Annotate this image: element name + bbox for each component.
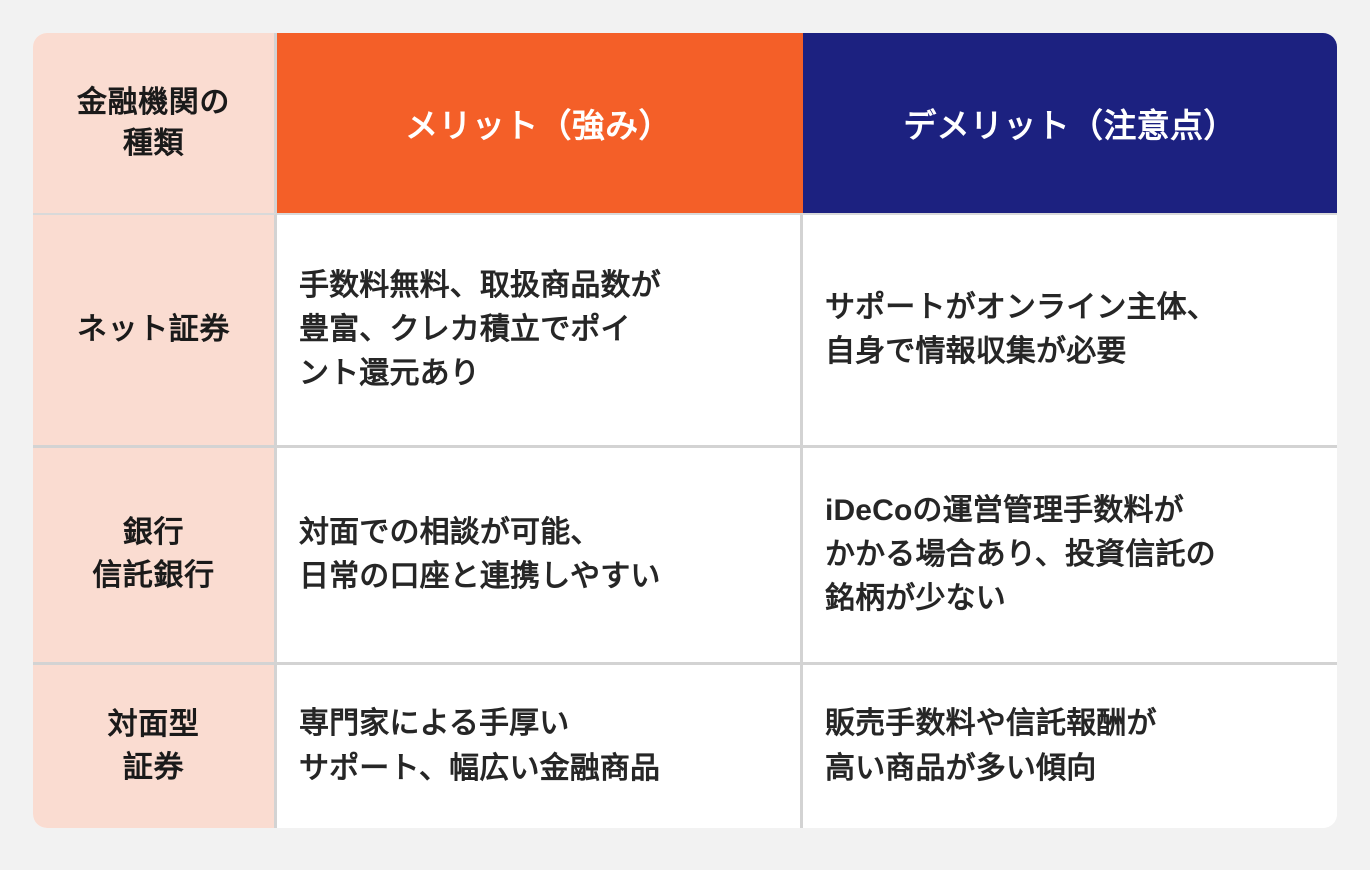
column-header-institution-type-line-1: 金融機関の — [33, 82, 274, 123]
demerit-line: 販売手数料や信託報酬が — [825, 702, 1321, 746]
cell-merit-face-to-face-securities: 専門家による手厚い サポート、幅広い金融商品 — [277, 662, 800, 828]
demerit-line: 自身で情報収集が必要 — [825, 330, 1321, 374]
column-header-institution-type: 金融機関の 種類 — [33, 33, 277, 213]
financial-institution-comparison-table: 金融機関の 種類 メリット（強み） デメリット（注意点） ネット証券 手数料無料… — [33, 33, 1337, 828]
row-label-line: 対面型 — [33, 704, 274, 747]
cell-demerit-face-to-face-securities: 販売手数料や信託報酬が 高い商品が多い傾向 — [800, 662, 1337, 828]
row-label-line: 証券 — [33, 747, 274, 790]
cell-merit-net-securities: 手数料無料、取扱商品数が 豊富、クレカ積立でポイ ント還元あり — [277, 213, 800, 445]
table-row: 銀行 信託銀行 対面での相談が可能、 日常の口座と連携しやすい iDeCoの運営… — [33, 445, 1337, 662]
row-label-line: 信託銀行 — [33, 555, 274, 598]
column-header-demerit: デメリット（注意点） — [800, 33, 1337, 213]
demerit-line: iDeCoの運営管理手数料が — [825, 489, 1321, 533]
row-label-line: 銀行 — [33, 512, 274, 555]
row-label-bank-trust-bank: 銀行 信託銀行 — [33, 445, 277, 662]
merit-line: 日常の口座と連携しやすい — [299, 555, 784, 599]
merit-line: サポート、幅広い金融商品 — [299, 747, 784, 791]
merit-line: 豊富、クレカ積立でポイ — [299, 308, 784, 352]
demerit-line: 銘柄が少ない — [825, 577, 1321, 621]
column-header-merit: メリット（強み） — [277, 33, 800, 213]
column-header-merit-label: メリット（強み） — [277, 99, 800, 147]
row-label-line: ネット証券 — [33, 309, 274, 352]
column-header-demerit-label: デメリット（注意点） — [803, 99, 1337, 147]
table-row: ネット証券 手数料無料、取扱商品数が 豊富、クレカ積立でポイ ント還元あり サポ… — [33, 213, 1337, 445]
row-label-face-to-face-securities: 対面型 証券 — [33, 662, 277, 828]
merit-line: 手数料無料、取扱商品数が — [299, 264, 784, 308]
cell-demerit-bank-trust-bank: iDeCoの運営管理手数料が かかる場合あり、投資信託の 銘柄が少ない — [800, 445, 1337, 662]
table-body: ネット証券 手数料無料、取扱商品数が 豊富、クレカ積立でポイ ント還元あり サポ… — [33, 213, 1337, 828]
merit-line: ント還元あり — [299, 352, 784, 396]
table-row: 対面型 証券 専門家による手厚い サポート、幅広い金融商品 販売手数料や信託報酬… — [33, 662, 1337, 828]
demerit-line: サポートがオンライン主体、 — [825, 286, 1321, 330]
table-header-row: 金融機関の 種類 メリット（強み） デメリット（注意点） — [33, 33, 1337, 213]
demerit-line: 高い商品が多い傾向 — [825, 747, 1321, 791]
cell-merit-bank-trust-bank: 対面での相談が可能、 日常の口座と連携しやすい — [277, 445, 800, 662]
cell-demerit-net-securities: サポートがオンライン主体、 自身で情報収集が必要 — [800, 213, 1337, 445]
table-header: 金融機関の 種類 メリット（強み） デメリット（注意点） — [33, 33, 1337, 213]
merit-line: 対面での相談が可能、 — [299, 511, 784, 555]
column-header-institution-type-line-2: 種類 — [33, 123, 274, 164]
row-label-net-securities: ネット証券 — [33, 213, 277, 445]
demerit-line: かかる場合あり、投資信託の — [825, 533, 1321, 577]
comparison-table-container: 金融機関の 種類 メリット（強み） デメリット（注意点） ネット証券 手数料無料… — [33, 33, 1337, 828]
merit-line: 専門家による手厚い — [299, 702, 784, 746]
